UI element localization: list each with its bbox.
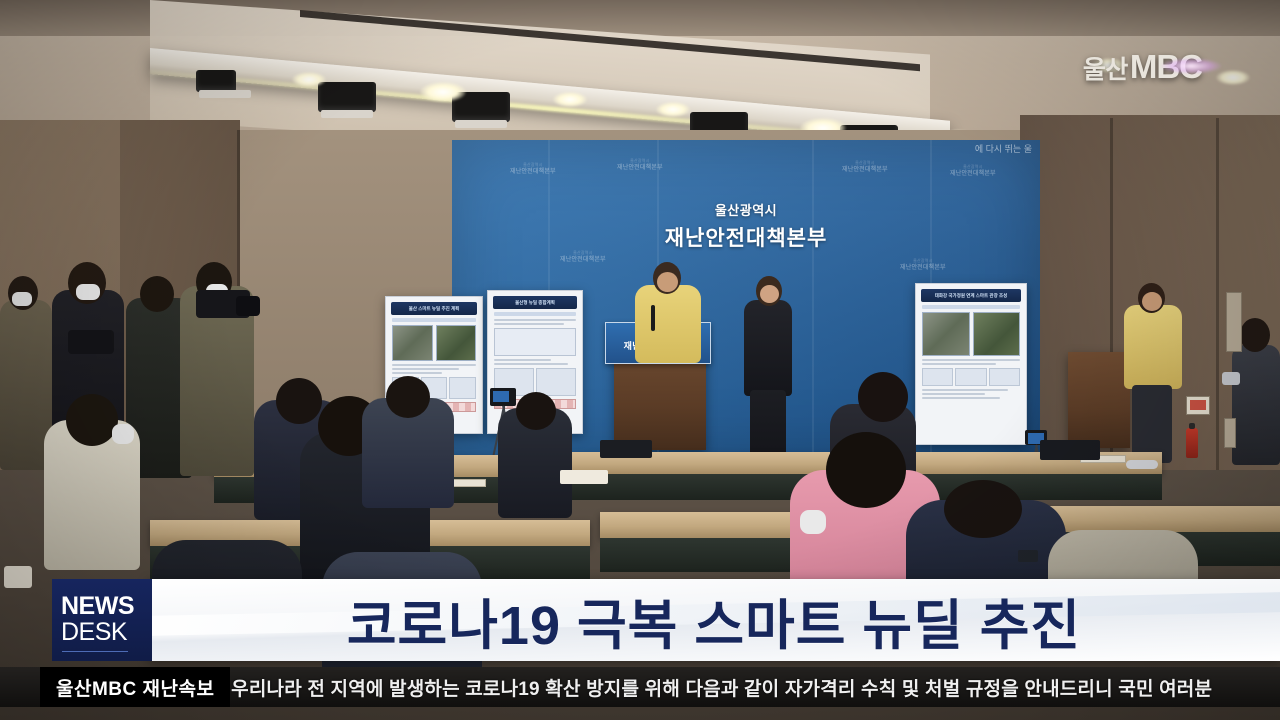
technician-head <box>1240 318 1270 352</box>
paper-stack <box>560 470 608 484</box>
camera-body <box>490 388 516 406</box>
spotlight-glow <box>656 102 690 117</box>
ticker-label: 울산MBC 재난속보 <box>40 667 230 707</box>
microphone <box>651 305 655 331</box>
poster-title: 울산 스마트 뉴딜 추진 계획 <box>409 306 460 312</box>
program-logo-underline <box>62 651 128 653</box>
backdrop-watermark: 울산광역시 재난안전대책본부 <box>560 250 606 265</box>
backdrop-watermark: 울산광역시 재난안전대책본부 <box>900 258 946 273</box>
face-mask <box>12 292 32 306</box>
attendee-head <box>276 378 322 424</box>
ticker-message: 월 우리나라 전 지역에 발생하는 코로나19 확산 방지를 위해 다음과 같이… <box>208 667 1280 707</box>
speaker-body <box>635 285 701 363</box>
laptop <box>1040 440 1100 460</box>
laptop <box>600 440 652 458</box>
poster-subtitle-bar <box>392 318 476 322</box>
backdrop-watermark: 울산광역시 재난안전대책본부 <box>842 160 888 175</box>
backdrop-slogan: 에 다시 뛰는 울 <box>975 142 1032 155</box>
attendee-head <box>516 392 556 430</box>
backdrop-org-text: 울산광역시 재난안전대책본부 <box>452 200 1040 252</box>
lens-flare <box>1160 58 1222 74</box>
wall-panel-box <box>1226 292 1242 352</box>
technician-body <box>1232 345 1280 465</box>
lower-third: 코로나19 극복 스마트 뉴딜 추진 NEWS DESK <box>0 579 1280 661</box>
fire-extinguisher <box>1186 428 1198 458</box>
headline-text: 코로나19 극복 스마트 뉴딜 추진 <box>148 579 1280 661</box>
microphone <box>1126 460 1158 469</box>
side-podium <box>1068 352 1130 448</box>
spotlight-glow <box>553 92 587 107</box>
backdrop-watermark: 울산광역시 재난안전대책본부 <box>510 162 556 177</box>
spotlight-glow <box>292 72 326 87</box>
broadcast-screen: ULSAN THE RISING CITY 에 다시 뛰는 울 울산광역시 재난… <box>0 0 1280 720</box>
aide-face <box>1142 292 1162 311</box>
attendee-head <box>944 480 1022 538</box>
poster-subtitle-bar <box>494 312 576 316</box>
face-mask <box>800 510 826 534</box>
attendee-head <box>858 372 908 422</box>
smartphone <box>1018 550 1038 562</box>
poster-title: 울산형 뉴딜 종합계획 <box>515 300 555 306</box>
program-logo: NEWS DESK <box>52 579 152 661</box>
camera <box>68 330 114 354</box>
attendee-head <box>386 376 430 418</box>
stage-light-fixture <box>196 70 236 92</box>
photographer-head <box>140 276 174 312</box>
backdrop-org-line1: 울산광역시 <box>452 200 1040 219</box>
spotlight-glow <box>1216 70 1250 85</box>
exit-sign <box>1186 396 1210 415</box>
aide-body <box>1124 305 1182 389</box>
backdrop-org-line2: 재난안전대책본부 <box>452 222 1040 252</box>
interpreter-body <box>744 300 792 396</box>
handheld-device <box>1222 372 1240 385</box>
attendee-head <box>66 394 118 446</box>
presentation-poster: 태화강 국가정원 연계 스마트 관광 조성 <box>915 283 1027 445</box>
wall-panel-box <box>1224 418 1236 448</box>
poster-table <box>494 328 576 356</box>
attendee-head <box>826 432 906 508</box>
spotlight-glow <box>420 82 466 102</box>
backdrop-watermark: 울산광역시 재난안전대책본부 <box>617 158 663 173</box>
camera-lens <box>236 296 260 316</box>
stage-light-fixture <box>318 82 376 112</box>
speaker-face <box>657 272 678 292</box>
face-mask <box>76 284 100 300</box>
news-ticker: 월 우리나라 전 지역에 발생하는 코로나19 확산 방지를 위해 다음과 같이… <box>0 661 1280 720</box>
program-logo-line1: NEWS <box>61 595 152 619</box>
interpreter-face <box>760 285 779 303</box>
backdrop-watermark: 울산광역시 재난안전대책본부 <box>950 164 996 179</box>
program-logo-line2: DESK <box>61 619 152 645</box>
face-mask <box>112 424 134 444</box>
channel-logo-korean: 울산 <box>1083 50 1128 86</box>
poster-title: 태화강 국가정원 연계 스마트 관광 조성 <box>935 293 1008 299</box>
poster-subtitle-bar <box>922 305 1020 309</box>
